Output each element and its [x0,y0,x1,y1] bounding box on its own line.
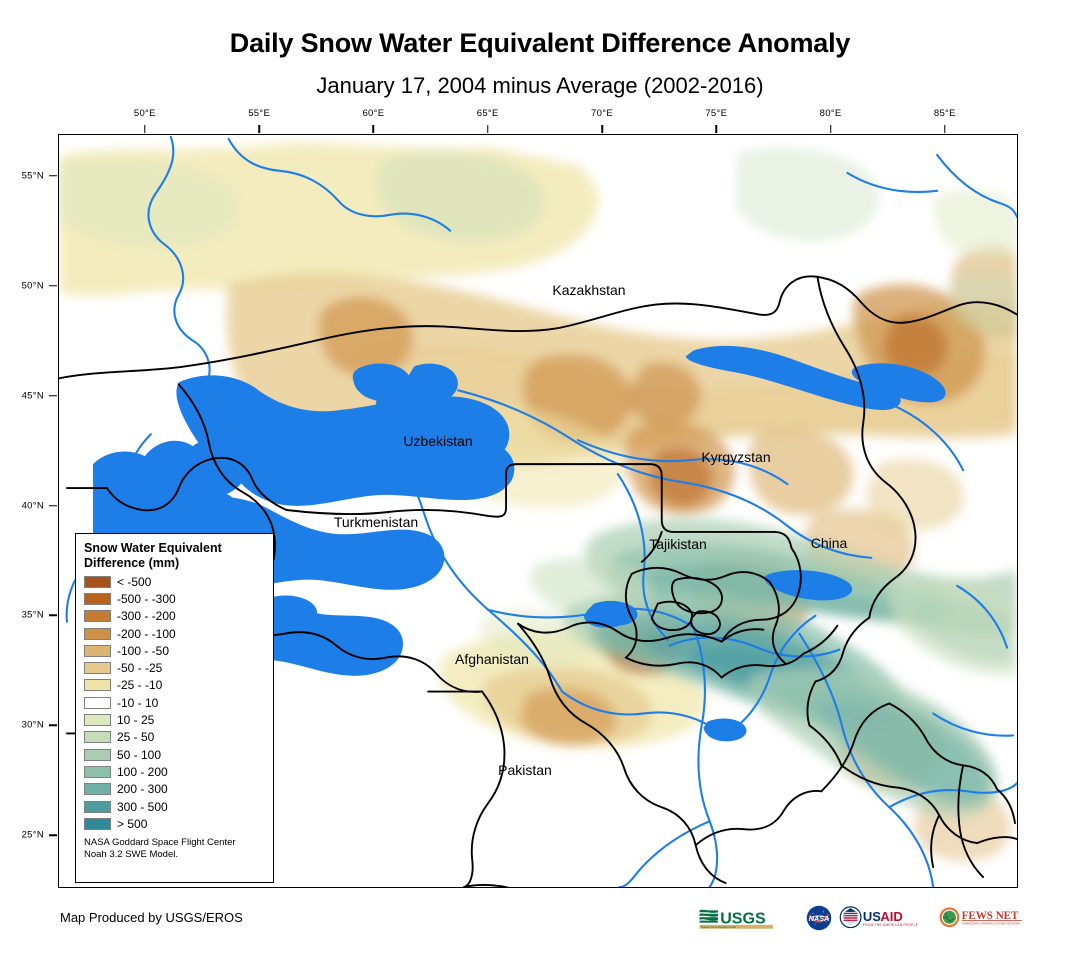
legend-color-swatch [84,645,111,657]
legend-label: 100 - 200 [117,765,168,779]
latitude-label: 40°N [10,500,44,511]
legend-row: 100 - 200 [84,763,265,780]
legend-color-swatch [84,628,111,640]
legend-row: -50 - -25 [84,659,265,676]
latitude-label: 50°N [10,280,44,291]
legend-color-swatch [84,818,111,830]
longitude-label: 85°E [934,108,956,119]
longitude-label: 70°E [591,108,613,119]
legend-color-swatch [84,766,111,778]
latitude-tick [49,834,57,836]
legend-color-swatch [84,801,111,813]
map-legend: Snow Water Equivalent Difference (mm) < … [75,533,274,883]
latitude-label: 55°N [10,170,44,181]
legend-color-swatch [84,610,111,622]
logo-strip: USGS science for a changing world NASA U… [698,903,1028,933]
legend-label: < -500 [117,575,151,589]
longitude-tick [258,125,260,133]
legend-source-note: NASA Goddard Space Flight Center Noah 3.… [84,837,265,860]
map-credit: Map Produced by USGS/EROS [60,910,243,925]
svg-text:AID: AID [880,909,902,924]
legend-row: -500 - -300 [84,590,265,607]
legend-color-swatch [84,662,111,674]
latitude-tick [49,395,57,397]
legend-row: -100 - -50 [84,642,265,659]
legend-label: 200 - 300 [117,782,168,796]
longitude-tick [373,125,375,133]
legend-title: Snow Water Equivalent Difference (mm) [84,541,265,570]
page-title: Daily Snow Water Equivalent Difference A… [0,28,1080,59]
legend-color-swatch [84,593,111,605]
latitude-tick [49,615,57,617]
legend-label: -500 - -300 [117,592,176,606]
longitude-tick [830,125,832,133]
legend-label: -50 - -25 [117,661,162,675]
legend-label: -200 - -100 [117,627,176,641]
longitude-label: 65°E [477,108,499,119]
latitude-label: 30°N [10,720,44,731]
legend-color-swatch [84,576,111,588]
svg-text:FAMINE EARLY WARNING SYSTEMS N: FAMINE EARLY WARNING SYSTEMS NETWORK [962,921,1021,925]
legend-row: 200 - 300 [84,781,265,798]
legend-color-swatch [84,731,111,743]
legend-row: -300 - -200 [84,608,265,625]
legend-color-swatch [84,749,111,761]
svg-text:science for a changing world: science for a changing world [701,925,736,929]
legend-label: 10 - 25 [117,713,154,727]
legend-label: -10 - 10 [117,696,158,710]
longitude-label: 60°E [362,108,384,119]
legend-row: > 500 [84,815,265,832]
title-block: Daily Snow Water Equivalent Difference A… [0,0,1080,99]
svg-text:FEWS NET: FEWS NET [962,910,1019,922]
longitude-label: 55°E [248,108,270,119]
latitude-tick [49,175,57,177]
longitude-tick [144,125,146,133]
usgs-logo[interactable]: USGS science for a changing world [698,905,799,931]
legend-row: -25 - -10 [84,677,265,694]
latitude-label: 45°N [10,390,44,401]
longitude-tick [944,125,946,133]
latitude-tick [49,505,57,507]
latitude-label: 25°N [10,830,44,841]
legend-label: -300 - -200 [117,609,176,623]
longitude-tick [487,125,489,133]
legend-label: -25 - -10 [117,678,162,692]
legend-color-swatch [84,783,111,795]
longitude-label: 80°E [820,108,842,119]
svg-text:USGS: USGS [720,909,766,927]
legend-label: 25 - 50 [117,730,154,744]
legend-row: 25 - 50 [84,729,265,746]
legend-color-swatch [84,714,111,726]
latitude-tick [49,725,57,727]
page-subtitle: January 17, 2004 minus Average (2002-201… [0,73,1080,99]
legend-label: 300 - 500 [117,800,168,814]
svg-text:FROM THE AMERICAN PEOPLE: FROM THE AMERICAN PEOPLE [863,923,918,927]
legend-row: < -500 [84,573,265,590]
legend-row: 300 - 500 [84,798,265,815]
longitude-label: 75°E [705,108,727,119]
legend-row: 10 - 25 [84,711,265,728]
legend-color-swatch [84,697,111,709]
legend-row: -10 - 10 [84,694,265,711]
svg-text:US: US [863,909,881,924]
legend-color-swatch [84,679,111,691]
legend-class-list: < -500-500 - -300-300 - -200-200 - -100-… [84,573,265,832]
legend-row: 50 - 100 [84,746,265,763]
longitude-tick [601,125,603,133]
latitude-label: 35°N [10,610,44,621]
legend-row: -200 - -100 [84,625,265,642]
longitude-label: 50°E [134,108,156,119]
nasa-logo[interactable]: NASA [806,905,832,931]
usaid-logo[interactable]: US AID FROM THE AMERICAN PEOPLE [839,905,931,931]
legend-label: 50 - 100 [117,748,161,762]
svg-text:NASA: NASA [809,914,830,923]
longitude-tick [716,125,718,133]
legend-label: > 500 [117,817,147,831]
fewsnet-logo[interactable]: FEWS NET FAMINE EARLY WARNING SYSTEMS NE… [938,905,1028,931]
latitude-tick [49,285,57,287]
legend-label: -100 - -50 [117,644,169,658]
